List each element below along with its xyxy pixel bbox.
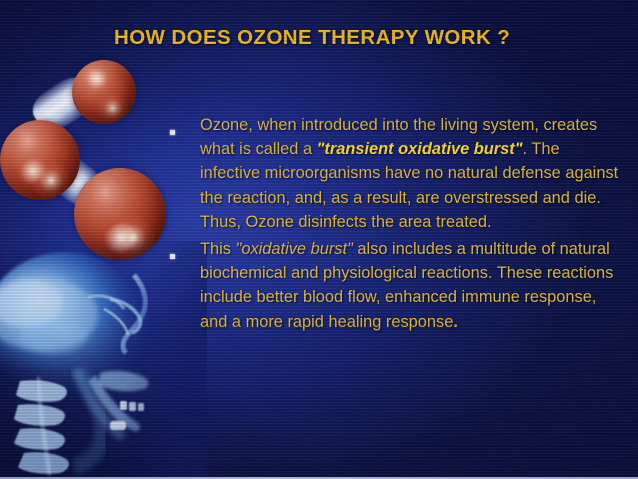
ozone-molecule [0,48,188,268]
list-item: This "oxidative burst" also includes a m… [170,237,622,334]
bullet-text: Ozone, when introduced into the living s… [200,113,622,234]
presentation-slide: HOW DOES OZONE THERAPY WORK ? Ozone, whe… [0,0,638,479]
page-title: HOW DOES OZONE THERAPY WORK ? [114,26,510,50]
bullet-segment-highlight: "transient oxidative burst" [317,140,523,158]
bullet-segment-italic: "oxidative burst" [236,240,353,258]
bullet-text: This "oxidative burst" also includes a m… [200,237,622,334]
bullet-segment: This [200,240,236,258]
bullet-list: Ozone, when introduced into the living s… [170,113,622,334]
bullet-segment-bold: . [453,313,458,331]
oxygen-atom-sphere [72,60,136,124]
list-item: Ozone, when introduced into the living s… [170,113,622,234]
bullet-marker-icon [170,237,200,264]
bullet-marker-icon [170,113,200,140]
